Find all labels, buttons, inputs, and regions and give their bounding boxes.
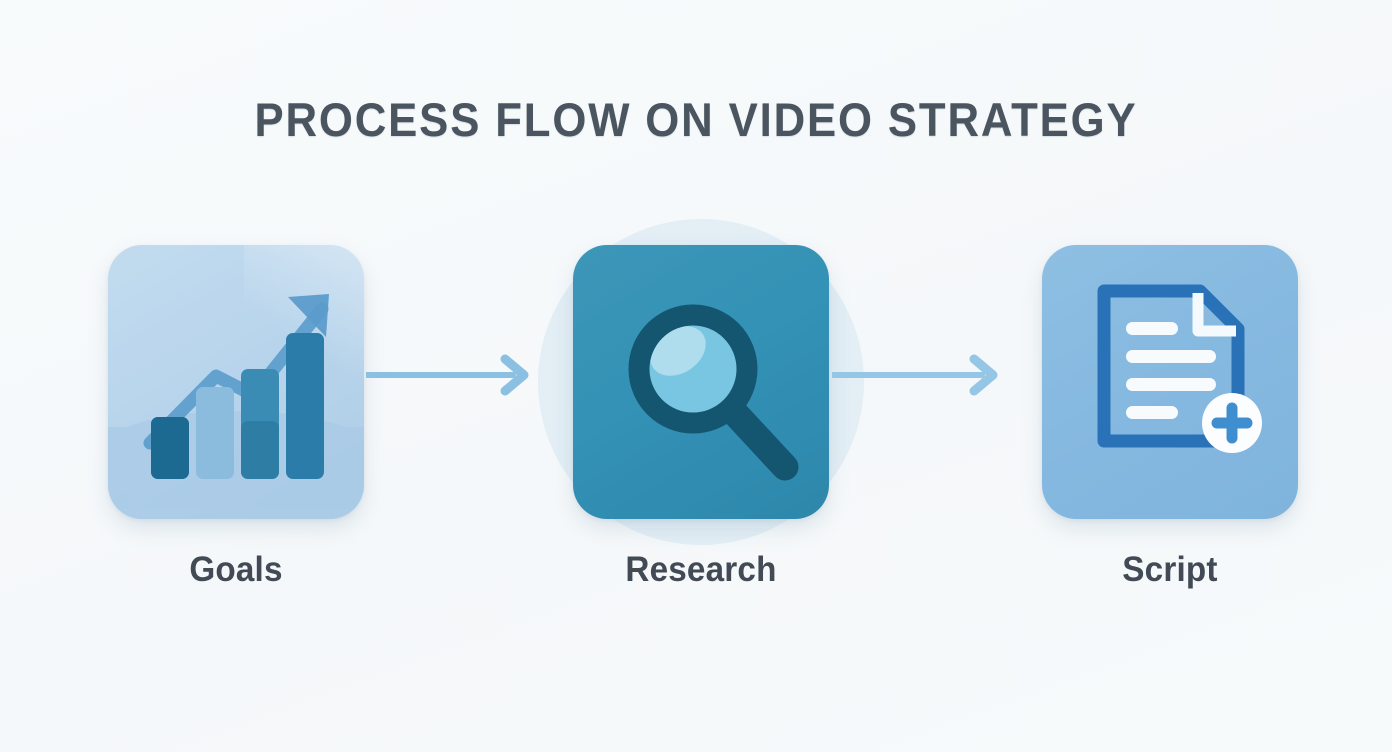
page-title: PROCESS FLOW ON VIDEO STRATEGY xyxy=(49,92,1344,147)
research-tile[interactable] xyxy=(573,245,829,519)
step-label-goals: Goals xyxy=(114,550,357,590)
magnifying-glass-icon xyxy=(573,245,829,519)
connector-goals-to-research xyxy=(366,353,532,397)
step-label-research: Research xyxy=(579,550,822,590)
document-add-icon xyxy=(1042,245,1298,519)
script-tile[interactable] xyxy=(1042,245,1298,519)
bar-chart-growth-icon xyxy=(108,245,364,519)
connector-research-to-script xyxy=(832,353,1002,397)
goals-tile[interactable] xyxy=(108,245,364,519)
arrow-right-icon xyxy=(832,353,1002,397)
process-step-script[interactable]: Script xyxy=(1042,245,1298,519)
process-steps-row: Goals Research xyxy=(0,245,1392,525)
process-step-goals[interactable]: Goals xyxy=(108,245,364,519)
arrow-right-icon xyxy=(366,353,532,397)
process-step-research[interactable]: Research xyxy=(573,245,829,519)
diagram-canvas: PROCESS FLOW ON VIDEO STRATEGY xyxy=(0,0,1392,752)
step-label-script: Script xyxy=(1048,550,1291,590)
